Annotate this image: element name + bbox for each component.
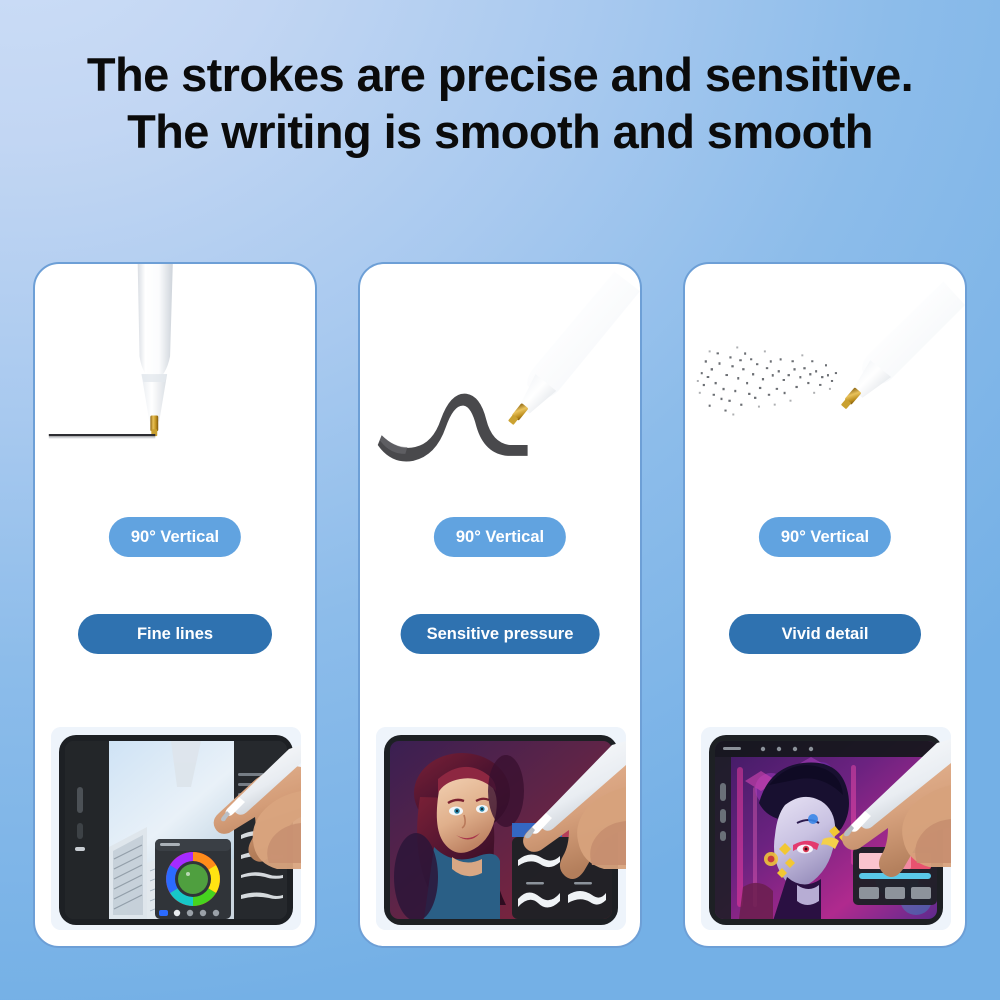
tablet-photo-fine-lines [51,727,301,930]
stylus-thin-line-demo [35,264,315,494]
stylus-barrel [527,272,640,398]
feature-card-fine-lines: 90° Vertical Fine lines [33,262,317,948]
page-title: The strokes are precise and sensitive. T… [0,46,1000,160]
badge-angle-card-1: 90° Vertical [109,517,241,557]
feature-card-sensitive-pressure: 90° Vertical Sensitive pressure [358,262,642,948]
badge-feature-card-1: Fine lines [78,614,272,654]
feature-card-vivid-detail: 90° Vertical Vivid detail [683,262,967,948]
badge-angle-label: 90° Vertical [781,528,869,547]
tablet-photo-vivid-detail [701,727,951,930]
feature-card-row: 90° Vertical Fine lines [33,262,967,948]
stylus-metal-tip [150,415,158,431]
earring [764,852,778,866]
badge-feature-label: Sensitive pressure [427,625,574,644]
badge-feature-label: Fine lines [137,625,213,644]
stylus-barrel [138,264,173,382]
badge-angle-label: 90° Vertical [131,528,219,547]
stylus-speckle-spray-demo [685,264,965,494]
color-wheel-panel [155,839,231,919]
badge-feature-card-3: Vivid detail [729,614,921,654]
headline-line-2: The writing is smooth and smooth [0,103,1000,160]
headline-line-1: The strokes are precise and sensitive. [0,46,1000,103]
badge-angle-card-3: 90° Vertical [759,517,891,557]
badge-feature-label: Vivid detail [782,625,869,644]
color-wheel [166,852,220,906]
product-feature-poster: The strokes are precise and sensitive. T… [0,0,1000,1000]
badge-angle-card-2: 90° Vertical [434,517,566,557]
badge-feature-card-2: Sensitive pressure [401,614,600,654]
stylus-pressure-wave-demo [360,264,640,494]
badge-angle-label: 90° Vertical [456,528,544,547]
speckle-spray [697,346,837,415]
tablet-photo-sensitive-pressure [376,727,626,930]
